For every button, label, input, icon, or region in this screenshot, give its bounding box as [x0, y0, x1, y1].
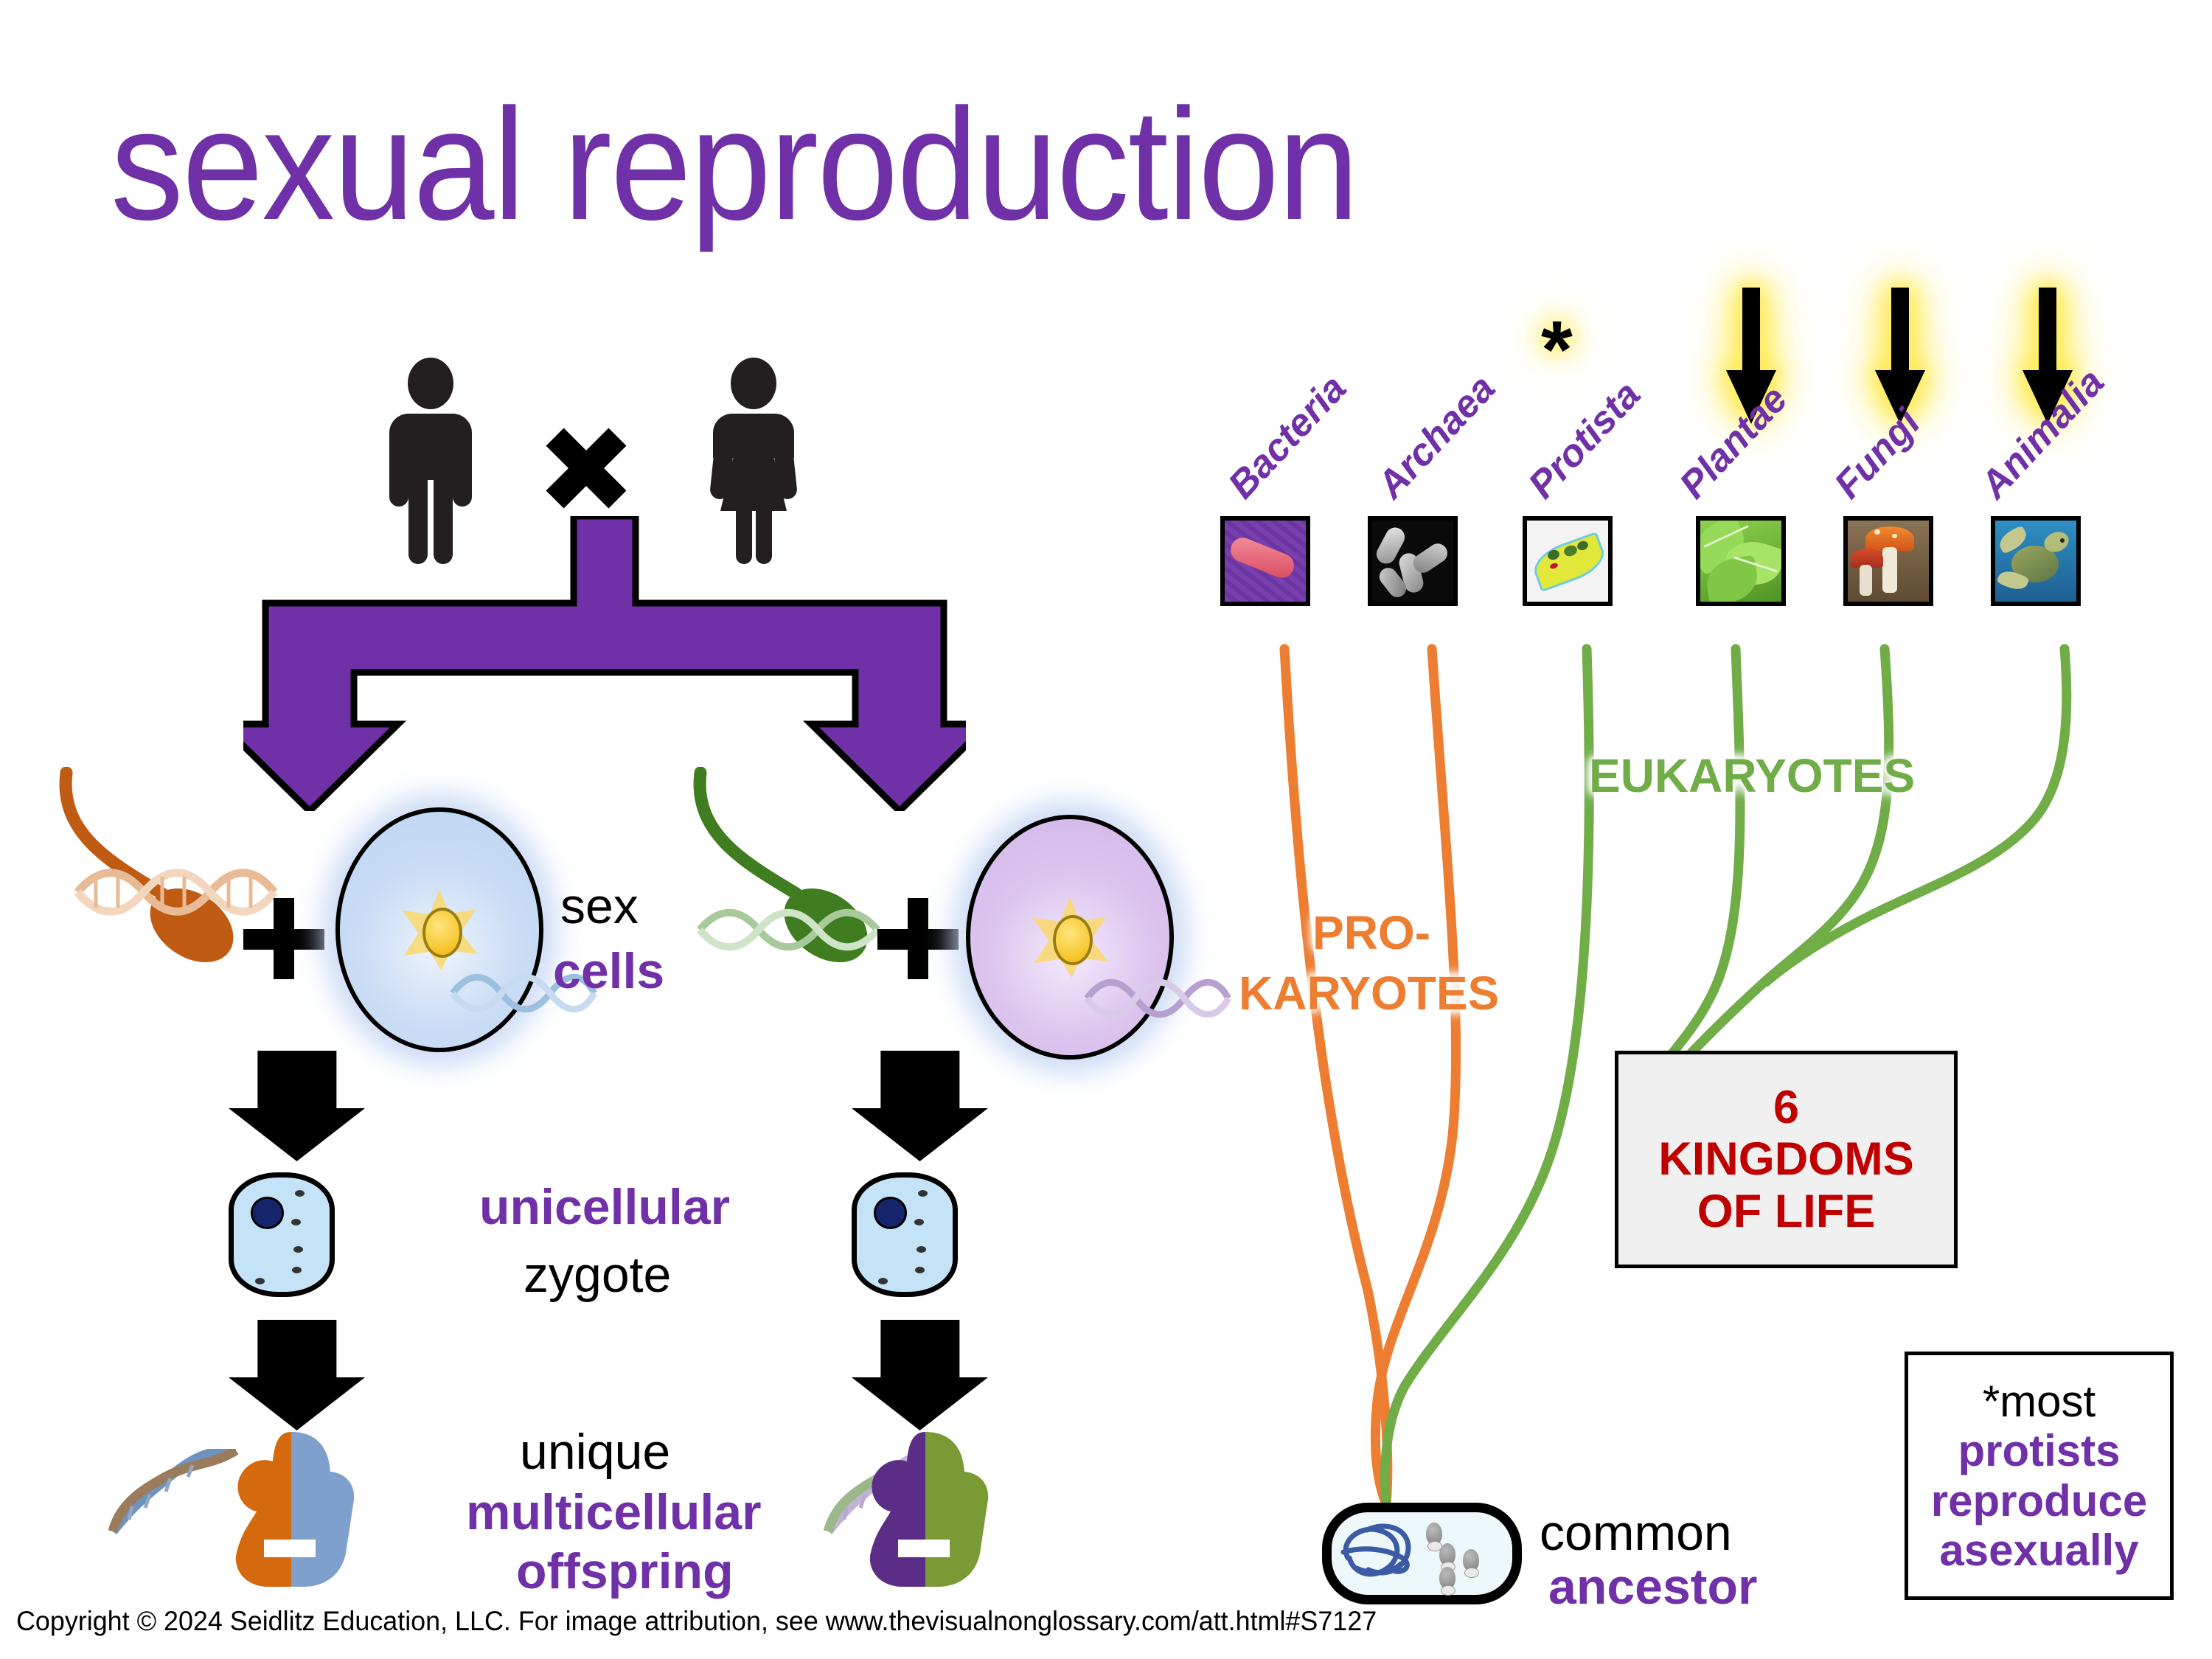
- asterisk-icon-archaea: *: [1541, 310, 1573, 391]
- sex-cells-label-line1: sex: [560, 877, 639, 935]
- dna-helix-purple: [1084, 977, 1231, 1020]
- thumb-archaea: [1368, 516, 1458, 606]
- offspring-figure-right: [855, 1430, 995, 1589]
- zygote-cell-right: [852, 1172, 958, 1297]
- note-line2: protists: [1958, 1426, 2120, 1475]
- egg-cell-blue: [335, 807, 543, 1052]
- down-arrow-left-2: [229, 1320, 365, 1430]
- prokaryotes-label-line2: KARYOTES: [1239, 966, 1499, 1020]
- kingdoms-box-line2: KINGDOMS: [1658, 1133, 1914, 1186]
- kingdoms-box-line1: 6: [1773, 1082, 1799, 1134]
- note-line4: asexually: [1939, 1526, 2138, 1575]
- zygote-cell-left: [229, 1172, 335, 1297]
- common-ancestor-cell: [1322, 1503, 1522, 1604]
- eukaryotes-label: EUKARYOTES: [1589, 748, 1915, 803]
- down-arrow-right-2: [852, 1320, 988, 1430]
- poster-canvas: sexual reproduction: [0, 0, 2212, 1659]
- kingdom-label-archaea: Archaea: [1368, 366, 1504, 507]
- offspring-label-line3: offspring: [516, 1543, 734, 1600]
- kingdoms-box-line3: OF LIFE: [1697, 1186, 1875, 1238]
- note-line1: *most: [1983, 1377, 2096, 1426]
- plus-icon-left: [243, 898, 324, 979]
- down-arrow-right-1: [852, 1051, 988, 1161]
- plus-icon-right: [877, 898, 959, 979]
- dna-helix-green: [697, 907, 881, 953]
- page-title: sexual reproduction: [111, 85, 1357, 243]
- thumb-bacteria: [1220, 516, 1310, 606]
- prokaryotes-label-line1: PRO-: [1312, 905, 1430, 960]
- zygote-label-line2: zygote: [524, 1246, 671, 1304]
- note-line3: reproduce: [1931, 1476, 2147, 1526]
- thumb-protista: [1523, 516, 1613, 606]
- kingdom-label-protista: Protista: [1520, 372, 1649, 507]
- ancestor-label-line2: ancestor: [1548, 1558, 1757, 1615]
- sex-cells-label-line2: cells: [553, 942, 664, 1000]
- offspring-label-line1: unique: [520, 1423, 670, 1481]
- thumb-fungi: [1843, 516, 1933, 606]
- egg-cell-purple: [966, 815, 1174, 1060]
- ancestor-label-line1: common: [1540, 1504, 1732, 1562]
- offspring-figure-left: [221, 1430, 361, 1589]
- down-arrow-left-1: [229, 1051, 365, 1161]
- zygote-label-line1: unicellular: [479, 1178, 730, 1236]
- thumb-plantae: [1696, 516, 1786, 606]
- offspring-label-line2: multicellular: [466, 1484, 762, 1541]
- kingdom-label-bacteria: Bacteria: [1220, 366, 1355, 507]
- kingdoms-of-life-box: 6 KINGDOMS OF LIFE: [1615, 1051, 1958, 1268]
- copyright-footer: Copyright © 2024 Seidlitz Education, LLC…: [16, 1606, 1377, 1637]
- multiply-icon: [542, 424, 630, 512]
- protist-note-box: *most protists reproduce asexually: [1905, 1352, 2174, 1600]
- thumb-animalia: [1991, 516, 2081, 606]
